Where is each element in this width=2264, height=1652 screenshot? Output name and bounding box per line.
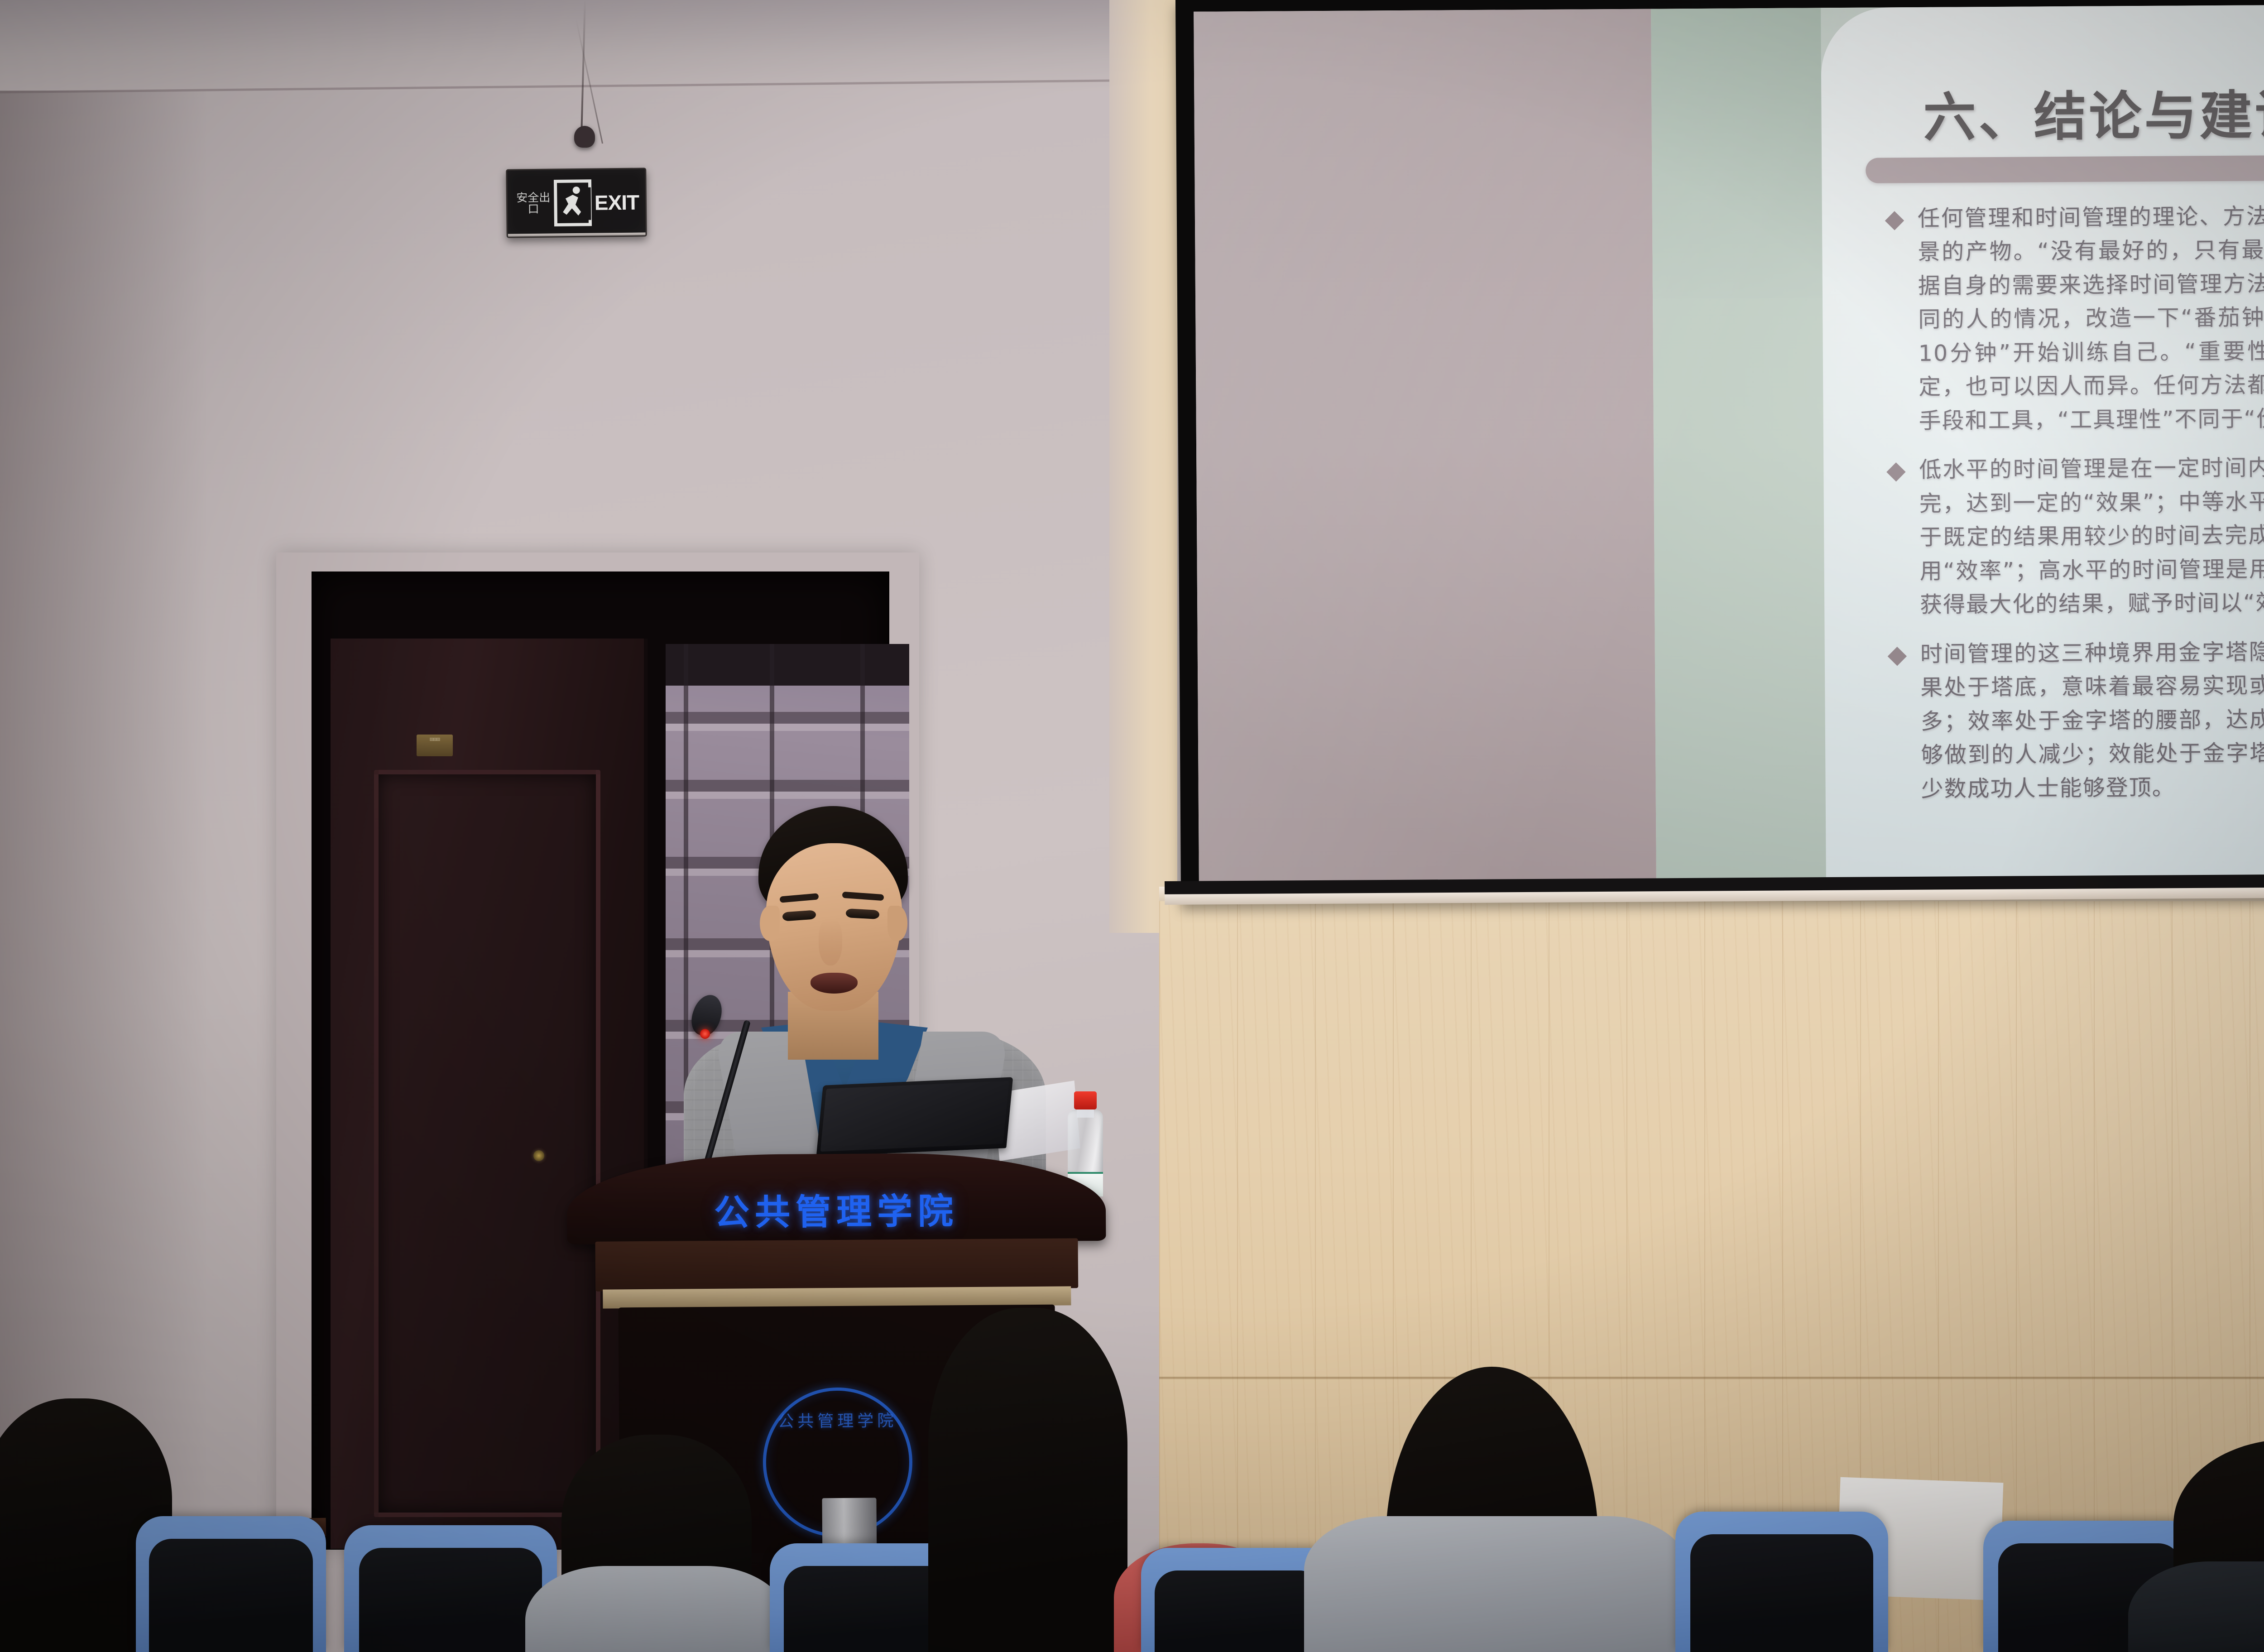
presenter-mouth (811, 973, 858, 994)
audience-shoulders (1304, 1516, 1689, 1652)
slide-title-rule (1866, 154, 2264, 183)
slide-bullet-text: 时间管理的这三种境界用金字塔隐喻更易明了：效果处于塔底，意味着最容易实现或能够做… (1920, 634, 2264, 806)
lecture-hall-photo: 安全出口 EXIT (0, 0, 2264, 1652)
emergency-exit-sign: 安全出口 EXIT (506, 168, 647, 238)
diamond-bullet-icon (1885, 211, 1904, 230)
presenter-ear-left (760, 906, 780, 941)
slide-bullet-item: 任何管理和时间管理的理论、方法都是特定时代背景的产物。“没有最好的，只有最合适的… (1888, 199, 2264, 438)
presenter-nose (819, 918, 842, 965)
slide-bullet-list: 任何管理和时间管理的理论、方法都是特定时代背景的产物。“没有最好的，只有最合适的… (1888, 199, 2264, 821)
presentation-slide: 六、结论与建议（2） 任何管理和时间管理的理论、方法都是特定时代背景的产物。“没… (1194, 4, 2264, 883)
running-person-exit-icon (552, 178, 593, 228)
slide-bullet-text: 任何管理和时间管理的理论、方法都是特定时代背景的产物。“没有最好的，只有最合适的… (1918, 199, 2264, 438)
wall-wood-transition (1109, 0, 1177, 933)
diamond-bullet-icon (1888, 647, 1907, 666)
slide-title: 六、结论与建议（2） (1923, 72, 2264, 151)
audience-shoulders (525, 1566, 788, 1652)
podium-emblem-label: 公共管理学院 (777, 1407, 897, 1432)
chair-back-cushion (1155, 1570, 1322, 1652)
chair-back-cushion (149, 1539, 312, 1652)
slide-bullet-text: 低水平的时间管理是在一定时间内把该做的事情做完，达到一定的“效果”；中等水平的时… (1919, 450, 2264, 622)
exit-sign-chinese-label: 安全出口 (514, 192, 553, 215)
laptop-computer[interactable] (816, 1077, 1013, 1156)
window-head (666, 644, 909, 686)
podium-mid-face (595, 1238, 1078, 1291)
bottle-cap-icon (1074, 1091, 1097, 1109)
audience-chair (1675, 1512, 1888, 1652)
door-notice-plate: ▤▤▤ (417, 735, 453, 756)
diamond-bullet-icon (1886, 462, 1905, 481)
podium-institution-label: 公共管理学院 (714, 1183, 959, 1235)
projection-screen: 六、结论与建议（2） 任何管理和时间管理的理论、方法都是特定时代背景的产物。“没… (1175, 0, 2264, 904)
slide-bullet-item: 低水平的时间管理是在一定时间内把该做的事情做完，达到一定的“效果”；中等水平的时… (1889, 450, 2264, 622)
slide-mauve-band (1194, 9, 1656, 883)
ceiling-hook (574, 126, 595, 148)
door-panel (374, 770, 600, 1517)
presenter-eye-right (846, 908, 880, 919)
exit-sign-english-label: EXIT (593, 190, 639, 215)
slide-bullet-item: 时间管理的这三种境界用金字塔隐喻更易明了：效果处于塔底，意味着最容易实现或能够做… (1890, 634, 2264, 807)
audience-head (928, 1308, 1127, 1652)
laptop-screen (820, 1081, 1009, 1152)
audience-chair (136, 1516, 326, 1652)
chair-back-cushion (359, 1548, 542, 1652)
microphone-led-indicator (700, 1029, 710, 1039)
presenter-ear-right (887, 906, 907, 941)
door-peephole-icon (533, 1150, 544, 1161)
chair-back-cushion (1690, 1534, 1873, 1652)
